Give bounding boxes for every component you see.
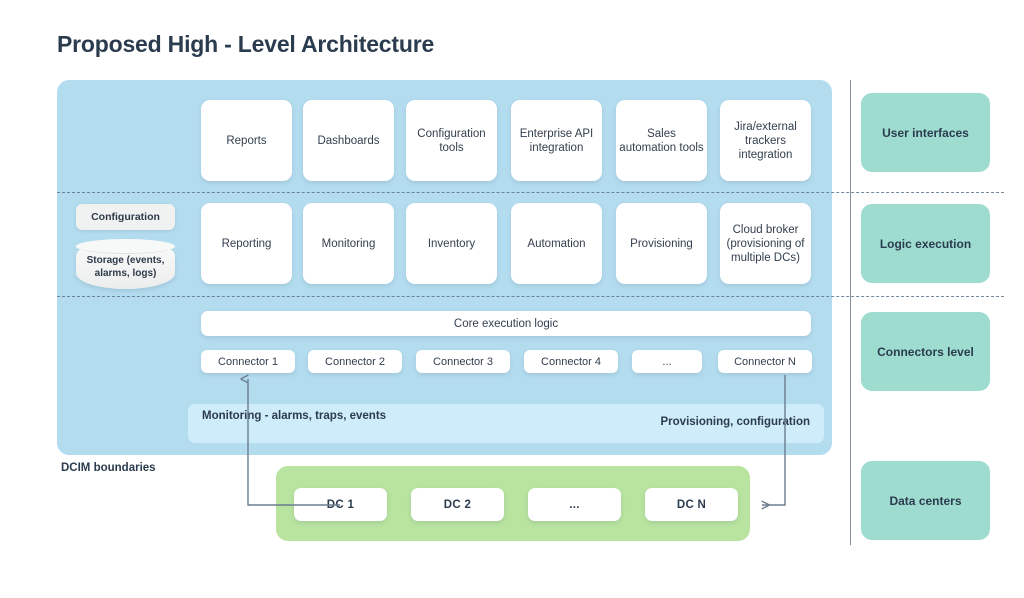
- logic-card-reporting[interactable]: Reporting: [201, 203, 292, 284]
- data-center-card-2[interactable]: DC 2: [411, 488, 504, 521]
- logic-card-provisioning[interactable]: Provisioning: [616, 203, 707, 284]
- cylinder-top-icon: [76, 239, 175, 254]
- data-center-card-1[interactable]: DC 1: [294, 488, 387, 521]
- connector-card-n[interactable]: Connector N: [718, 350, 812, 373]
- connector-card-1[interactable]: Connector 1: [201, 350, 295, 373]
- legend-logic-execution[interactable]: Logic execution: [861, 204, 990, 283]
- dcim-boundaries-label: DCIM boundaries: [61, 462, 156, 474]
- logic-card-inventory[interactable]: Inventory: [406, 203, 497, 284]
- connector-card-2[interactable]: Connector 2: [308, 350, 402, 373]
- logic-card-automation[interactable]: Automation: [511, 203, 602, 284]
- logic-card-monitoring[interactable]: Monitoring: [303, 203, 394, 284]
- connector-card-4[interactable]: Connector 4: [524, 350, 618, 373]
- configuration-box[interactable]: Configuration: [76, 204, 175, 230]
- legend-user-interfaces[interactable]: User interfaces: [861, 93, 990, 172]
- ui-card-enterprise-api-integration[interactable]: Enterprise API integration: [511, 100, 602, 181]
- data-center-card-n[interactable]: DC N: [645, 488, 738, 521]
- core-execution-logic-bar[interactable]: Core execution logic: [201, 311, 811, 336]
- legend-data-centers[interactable]: Data centers: [861, 461, 990, 540]
- ui-card-jira-external-trackers-integration[interactable]: Jira/external trackers integration: [720, 100, 811, 181]
- layer-divider-logic-connectors: [57, 296, 1004, 297]
- flow-band-provisioning-label: Provisioning, configuration: [661, 416, 811, 428]
- flow-band: Monitoring - alarms, traps, events Provi…: [188, 404, 824, 443]
- ui-card-reports[interactable]: Reports: [201, 100, 292, 181]
- ui-card-dashboards[interactable]: Dashboards: [303, 100, 394, 181]
- connector-card-ellipsis[interactable]: ...: [632, 350, 702, 373]
- ui-card-configuration-tools[interactable]: Configuration tools: [406, 100, 497, 181]
- legend-connectors-level[interactable]: Connectors level: [861, 312, 990, 391]
- connector-card-3[interactable]: Connector 3: [416, 350, 510, 373]
- data-center-card-ellipsis[interactable]: ...: [528, 488, 621, 521]
- ui-card-sales-automation-tools[interactable]: Sales automation tools: [616, 100, 707, 181]
- layer-divider-user-logic: [57, 192, 1004, 193]
- logic-card-cloud-broker[interactable]: Cloud broker (provisioning of multiple D…: [720, 203, 811, 284]
- page-title: Proposed High - Level Architecture: [57, 31, 434, 58]
- storage-label: Storage (events, alarms, logs): [76, 255, 175, 280]
- legend-divider-line: [850, 80, 851, 545]
- flow-band-monitoring-label: Monitoring - alarms, traps, events: [202, 409, 386, 424]
- storage-cylinder[interactable]: Storage (events, alarms, logs): [76, 240, 175, 289]
